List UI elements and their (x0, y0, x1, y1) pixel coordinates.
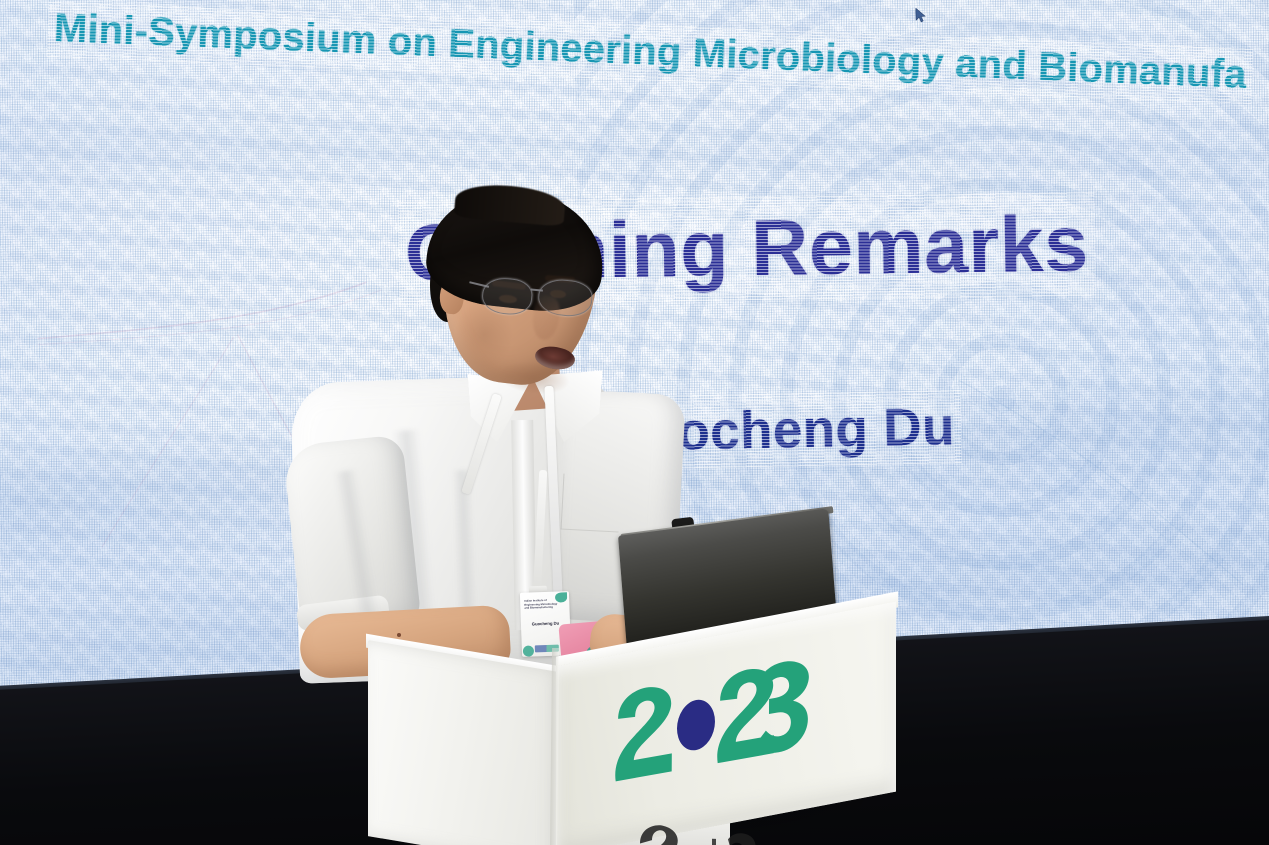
glasses-bridge (531, 289, 543, 292)
badge-header-line-3: and Biomanufacturing (524, 605, 565, 610)
skin-mark (397, 633, 401, 637)
photo-scene: Mini-Symposium on Engineering Microbiolo… (0, 0, 1269, 845)
podium-logo-2023-partial (636, 821, 756, 845)
badge-accent-shape-2 (523, 645, 534, 656)
podium-left-panel (368, 640, 558, 845)
badge-accent-shape (555, 592, 567, 602)
shirt-pocket (561, 474, 622, 533)
glasses-lens-left (481, 276, 534, 317)
